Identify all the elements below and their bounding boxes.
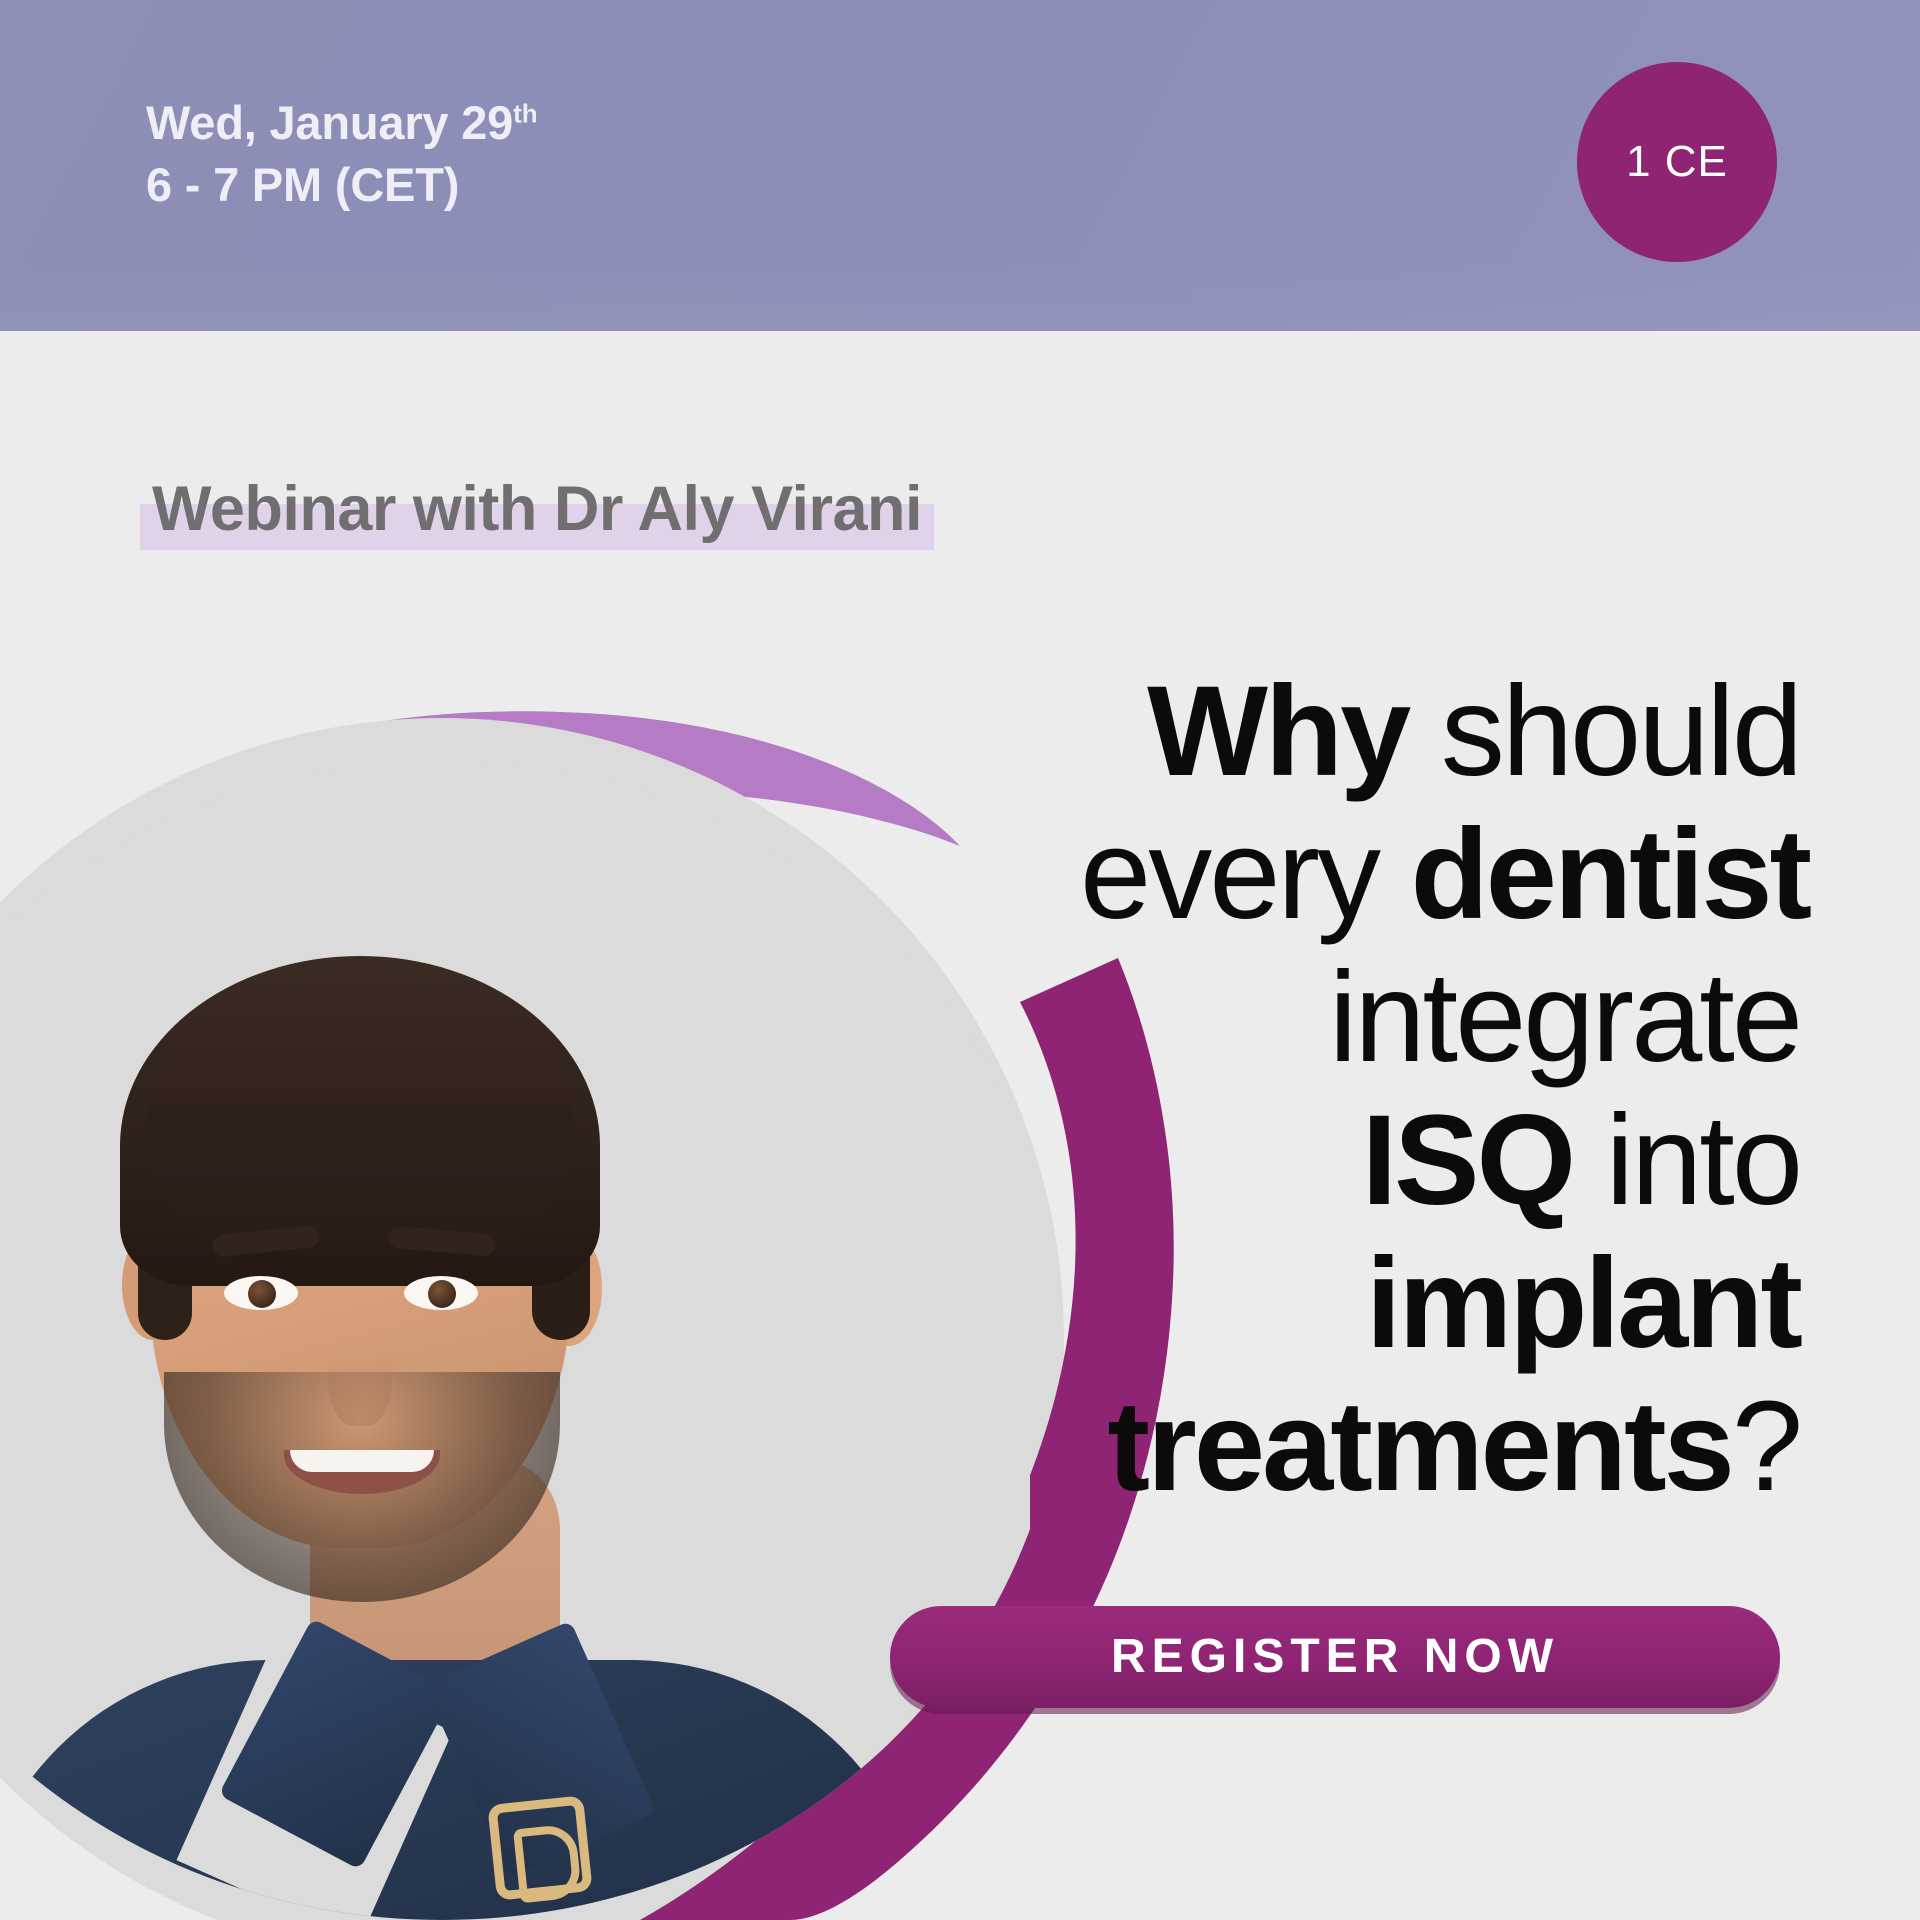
headline-run-4-1: ISQ [1362,1089,1574,1232]
portrait-scrubs-emblem [487,1795,593,1901]
headline-line-2: every dentist [1080,803,1800,946]
portrait-teeth [290,1450,434,1472]
event-date-ordinal: th [513,98,538,128]
portrait-eye-right [404,1276,478,1310]
speaker-portrait [0,760,1030,1920]
headline-run-3-1: integrate [1329,946,1800,1089]
event-date-line: Wed, January 29th [146,92,538,154]
headline-line-1: Why should [1080,660,1800,803]
portrait-eye-left [224,1276,298,1310]
headline-run-1-1: Why [1147,660,1408,803]
headline-line-3: integrate [1080,946,1800,1089]
portrait-image [0,760,1030,1920]
event-time-line: 6 - 7 PM (CET) [146,154,538,216]
event-date-text: Wed, January 29 [146,96,513,149]
register-now-button[interactable]: REGISTER NOW [890,1606,1780,1708]
headline-run-5-1: implant [1366,1232,1800,1375]
headline-run-4-2: into [1573,1089,1800,1232]
register-now-label: REGISTER NOW [1111,1633,1559,1681]
headline-line-5: implant [1080,1232,1800,1375]
webinar-subtitle-wrap: Webinar with Dr Aly Virani [140,478,934,547]
ce-badge-label: 1 CE [1626,140,1728,184]
portrait-hair [120,956,600,1286]
ce-credit-badge: 1 CE [1577,62,1777,262]
headline-line-4: ISQ into [1080,1089,1800,1232]
headline-run-2-2: dentist [1411,803,1810,946]
subtitle-text: Webinar with Dr Aly Virani [152,474,922,544]
headline-run-6-1: treatments [1107,1375,1731,1518]
webinar-subtitle: Webinar with Dr Aly Virani [140,478,934,547]
headline-line-6: treatments? [1080,1375,1800,1518]
webinar-promo-poster: Wed, January 29th 6 - 7 PM (CET) 1 CE We… [0,0,1920,1920]
headline: Why shouldevery dentistintegrateISQ into… [1080,660,1800,1518]
event-datetime: Wed, January 29th 6 - 7 PM (CET) [146,92,538,216]
headline-run-6-2: ? [1732,1375,1800,1518]
headline-run-2-1: every [1080,803,1411,946]
headline-run-1-2: should [1408,660,1800,803]
